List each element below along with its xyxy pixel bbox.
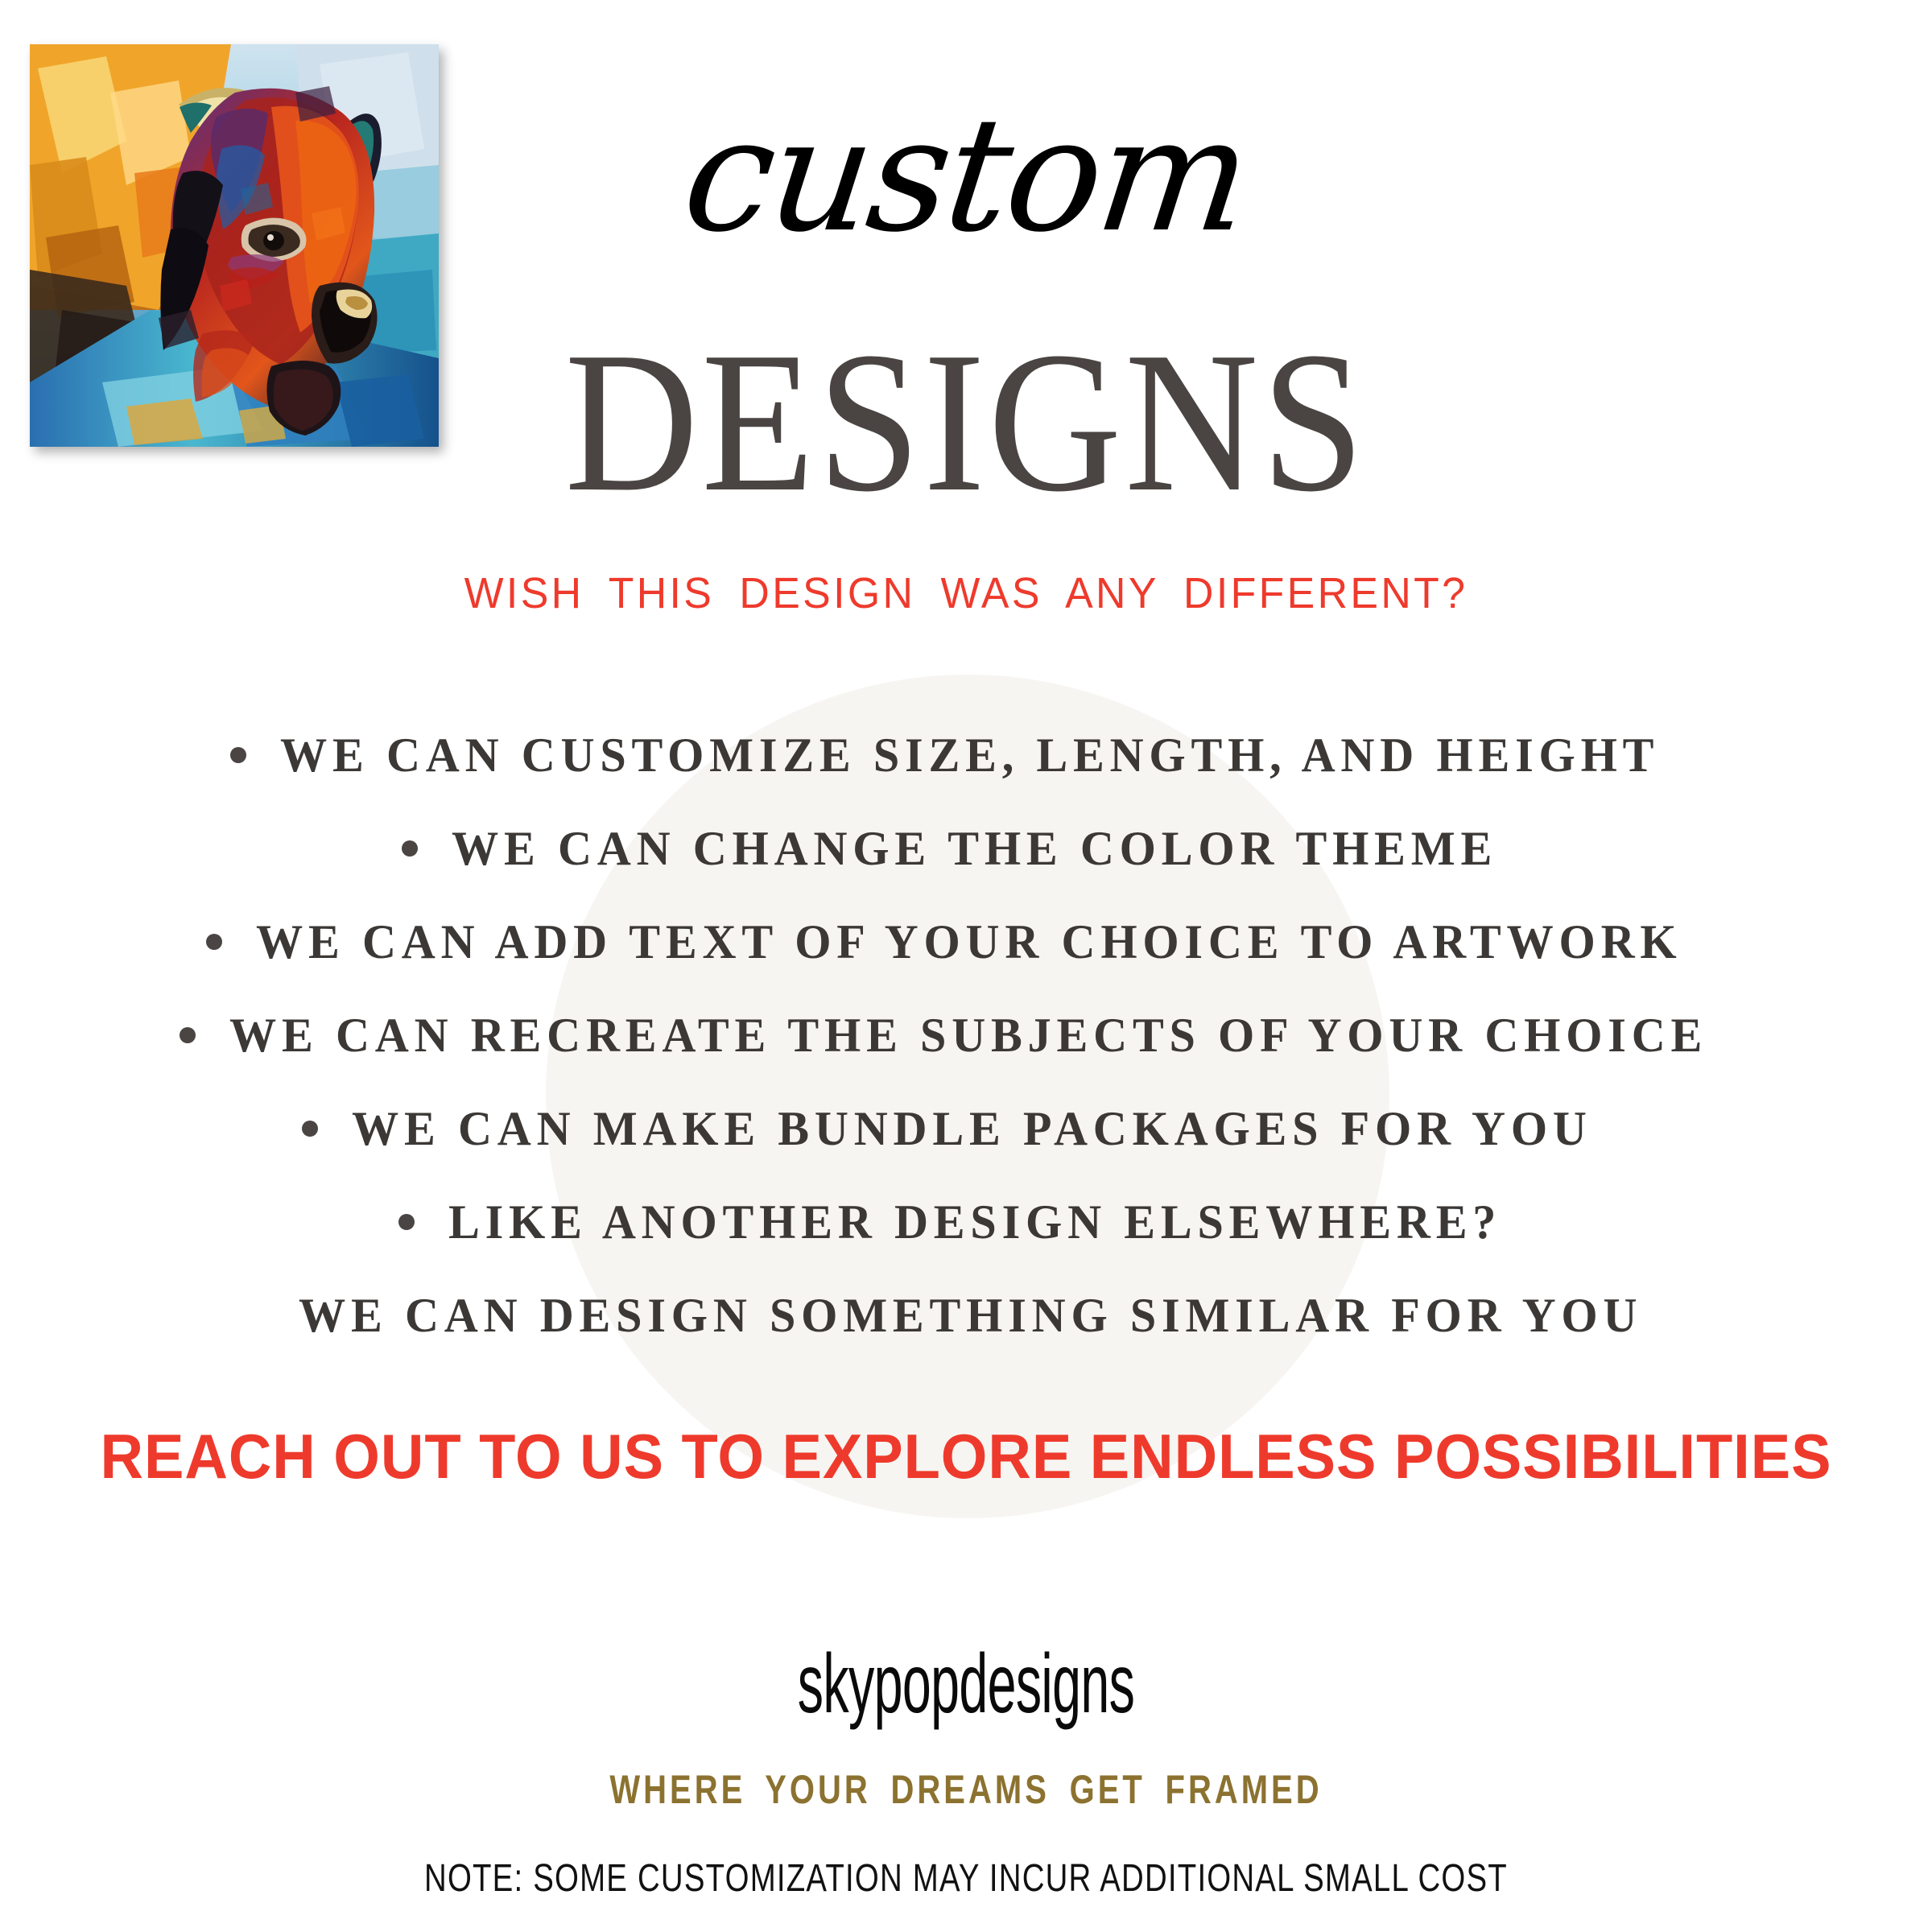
poster-content: custom DESIGNS WISH THIS DESIGN WAS ANY … (0, 0, 1932, 1932)
list-item-label: WE CAN CHANGE THE COLOR THEME (452, 824, 1497, 873)
list-item: WE CAN MAKE BUNDLE PACKAGES FOR YOU (0, 1082, 1932, 1175)
list-item-label: WE CAN RECREATE THE SUBJECTS OF YOUR CHO… (229, 1011, 1707, 1059)
brand-logo-wordmark: skypopdesigns (367, 1642, 1565, 1726)
subheadline: WISH THIS DESIGN WAS ANY DIFFERENT? (39, 572, 1893, 615)
list-item-continuation: WE CAN DESIGN SOMETHING SIMILAR FOR YOU (0, 1269, 1932, 1362)
list-item: WE CAN ADD TEXT OF YOUR CHOICE TO ARTWOR… (0, 895, 1932, 989)
brand-tagline: WHERE YOUR DREAMS GET FRAMED (193, 1769, 1739, 1810)
call-to-action-text: REACH OUT TO US TO EXPLORE ENDLESS POSSI… (48, 1425, 1884, 1488)
script-headline: custom (0, 97, 1932, 254)
benefits-list: WE CAN CUSTOMIZE SIZE, LENGTH, AND HEIGH… (0, 708, 1932, 1362)
bullet-dot-icon (206, 934, 222, 950)
bullet-dot-icon (180, 1027, 196, 1043)
list-item: WE CAN RECREATE THE SUBJECTS OF YOUR CHO… (0, 989, 1932, 1082)
bullet-dot-icon (302, 1121, 318, 1137)
list-item-label: WE CAN CUSTOMIZE SIZE, LENGTH, AND HEIGH… (280, 731, 1659, 779)
footer-note: NOTE: SOME CUSTOMIZATION MAY INCUR ADDIT… (193, 1860, 1739, 1898)
list-item: LIKE ANOTHER DESIGN ELSEWHERE? (0, 1175, 1932, 1269)
list-item: WE CAN CHANGE THE COLOR THEME (0, 802, 1932, 895)
list-item-label: WE CAN DESIGN SOMETHING SIMILAR FOR YOU (299, 1291, 1642, 1340)
bullet-dot-icon (398, 1214, 415, 1230)
list-item-label: WE CAN MAKE BUNDLE PACKAGES FOR YOU (352, 1104, 1592, 1153)
bullet-dot-icon (230, 747, 246, 763)
list-item-label: LIKE ANOTHER DESIGN ELSEWHERE? (448, 1198, 1501, 1246)
list-item-label: WE CAN ADD TEXT OF YOUR CHOICE TO ARTWOR… (256, 918, 1682, 966)
list-item: WE CAN CUSTOMIZE SIZE, LENGTH, AND HEIGH… (0, 708, 1932, 802)
bullet-dot-icon (402, 840, 418, 857)
page-title: DESIGNS (77, 322, 1855, 523)
